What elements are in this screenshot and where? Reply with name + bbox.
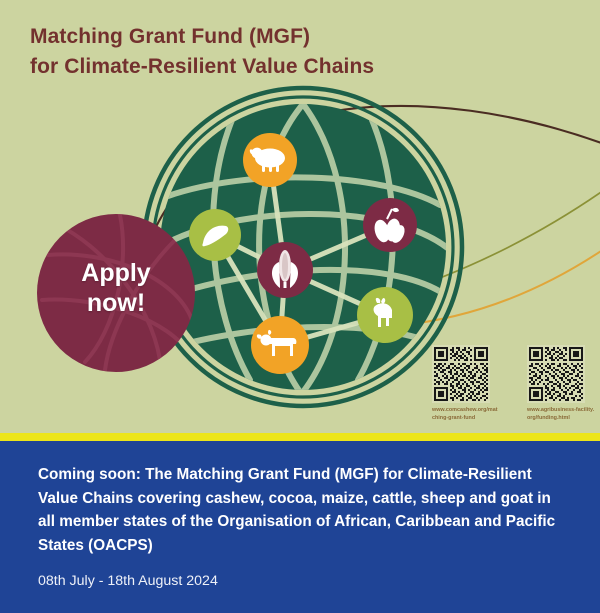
node-goat[interactable] <box>357 287 413 343</box>
apply-now-badge[interactable] <box>37 214 195 372</box>
announcement-text: Coming soon: The Matching Grant Fund (MG… <box>38 463 566 558</box>
comcashew-qr-caption: www.comcashew.org/matching-grant-fund <box>432 406 500 422</box>
announcement-date-range: 08th July - 18th August 2024 <box>38 573 218 589</box>
agribusiness-facility-qr-icon[interactable] <box>527 345 585 403</box>
qr-block-comcashew[interactable]: www.comcashew.org/matching-grant-fund <box>432 345 500 422</box>
comcashew-qr-icon[interactable] <box>432 345 490 403</box>
qr-block-agribusiness-facility[interactable]: www.agribusiness-facility.org/funding.ht… <box>527 345 595 422</box>
agribusiness-facility-qr-caption: www.agribusiness-facility.org/funding.ht… <box>527 406 595 422</box>
node-sheep[interactable] <box>243 133 297 187</box>
node-cocoa[interactable] <box>363 198 417 252</box>
yellow-divider <box>0 433 600 441</box>
node-maize[interactable] <box>257 242 313 298</box>
poster-top-panel: Matching Grant Fund (MGF) for Climate-Re… <box>0 0 600 433</box>
value-chain-globe-graphic <box>0 0 600 433</box>
announcement-banner: Coming soon: The Matching Grant Fund (MG… <box>0 441 600 613</box>
node-cattle[interactable] <box>251 316 309 374</box>
node-cashew[interactable] <box>189 209 241 261</box>
